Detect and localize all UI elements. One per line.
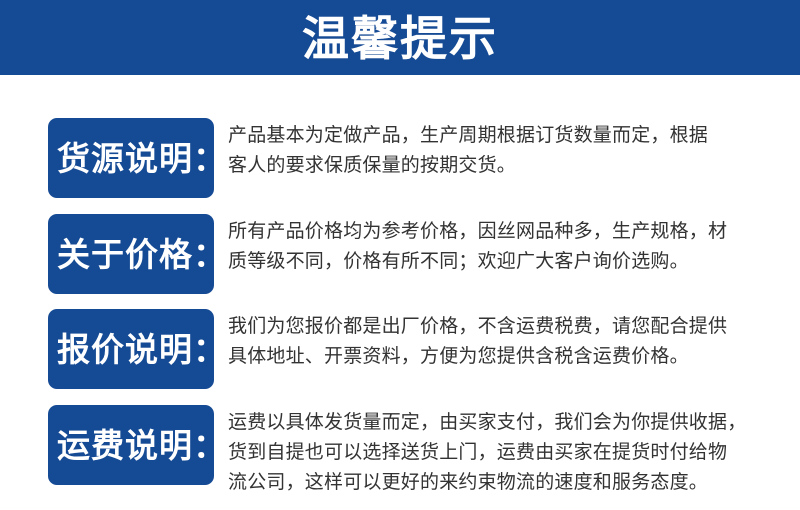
tip-row: 运费说明： 运费以具体发货量而定，由买家支付，我们会为你提供收据， 货到自提也可… bbox=[0, 405, 800, 498]
tip-row: 报价说明： 我们为您报价都是出厂价格，不含运费税费，请您配合提供 具体地址、开票… bbox=[0, 309, 800, 389]
tip-body-price: 所有产品价格均为参考价格，因丝网品种多，生产规格，材 质等级不同，价格有所不同；… bbox=[228, 217, 784, 277]
tip-body-line: 运费以具体发货量而定，由买家支付，我们会为你提供收据， bbox=[228, 408, 784, 438]
tip-label-box-source: 货源说明： bbox=[48, 118, 214, 198]
tips-list: 货源说明： 产品基本为定做产品，生产周期根据订货数量而定，根据 客人的要求保质保… bbox=[0, 75, 800, 510]
tip-label-box-quotation: 报价说明： bbox=[48, 309, 214, 389]
tip-row: 关于价格： 所有产品价格均为参考价格，因丝网品种多，生产规格，材 质等级不同，价… bbox=[0, 214, 800, 294]
tip-label-box-freight: 运费说明： bbox=[48, 405, 214, 485]
tips-banner: 温馨提示 货源说明： 产品基本为定做产品，生产周期根据订货数量而定，根据 客人的… bbox=[0, 0, 800, 510]
tip-body-line: 流公司，这样可以更好的来约束物流的速度和服务态度。 bbox=[228, 468, 784, 498]
tip-body-line: 客人的要求保质保量的按期交货。 bbox=[228, 151, 784, 181]
tip-body-line: 所有产品价格均为参考价格，因丝网品种多，生产规格，材 bbox=[228, 217, 784, 247]
tip-body-freight: 运费以具体发货量而定，由买家支付，我们会为你提供收据， 货到自提也可以选择送货上… bbox=[228, 408, 784, 498]
tip-body-quotation: 我们为您报价都是出厂价格，不含运费税费，请您配合提供 具体地址、开票资料，方便为… bbox=[228, 312, 784, 372]
tip-body-source: 产品基本为定做产品，生产周期根据订货数量而定，根据 客人的要求保质保量的按期交货… bbox=[228, 121, 784, 181]
tip-body-line: 产品基本为定做产品，生产周期根据订货数量而定，根据 bbox=[228, 121, 784, 151]
tip-body-line: 具体地址、开票资料，方便为您提供含税含运费价格。 bbox=[228, 342, 784, 372]
tip-label-text: 报价说明： bbox=[57, 333, 227, 366]
tip-body-line: 质等级不同，价格有所不同；欢迎广大客户询价选购。 bbox=[228, 247, 784, 277]
page-title: 温馨提示 bbox=[302, 15, 498, 62]
tip-body-line: 货到自提也可以选择送货上门，运费由买家在提货时付给物 bbox=[228, 438, 784, 468]
header-banner: 温馨提示 bbox=[0, 0, 800, 75]
tip-row: 货源说明： 产品基本为定做产品，生产周期根据订货数量而定，根据 客人的要求保质保… bbox=[0, 118, 800, 198]
tip-label-text: 货源说明： bbox=[57, 142, 227, 175]
tip-body-line: 我们为您报价都是出厂价格，不含运费税费，请您配合提供 bbox=[228, 312, 784, 342]
tip-label-text: 运费说明： bbox=[57, 429, 227, 462]
tip-label-box-price: 关于价格： bbox=[48, 214, 214, 294]
tip-label-text: 关于价格： bbox=[57, 238, 227, 271]
